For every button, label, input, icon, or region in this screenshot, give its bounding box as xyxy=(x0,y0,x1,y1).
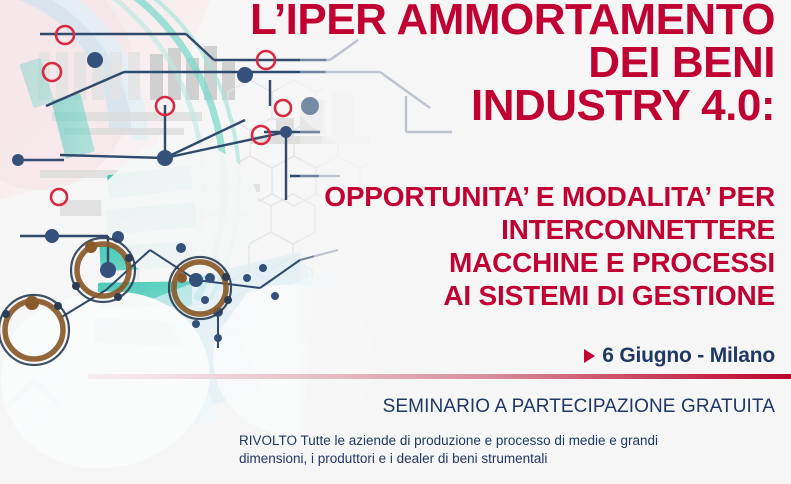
poster-root: L’IPER AMMORTAMENTO DEI BENI INDUSTRY 4.… xyxy=(0,0,791,484)
event-date-location: 6 Giugno - Milano xyxy=(15,344,775,368)
subtitle-line-3: MACCHINE E PROCESSI xyxy=(15,246,775,279)
gradient-divider xyxy=(88,374,791,379)
title-line-2: DEI BENI xyxy=(15,41,775,84)
text-layer: L’IPER AMMORTAMENTO DEI BENI INDUSTRY 4.… xyxy=(0,0,791,484)
event-date-text: 6 Giugno - Milano xyxy=(602,344,775,368)
triangle-right-icon xyxy=(584,349,595,363)
audience-description: RIVOLTO Tutte le aziende di produzione e… xyxy=(239,432,689,468)
subtitle-line-1: OPPORTUNITA’ E MODALITA’ PER xyxy=(15,180,775,213)
subtitle-line-2: INTERCONNETTERE xyxy=(15,213,775,246)
subtitle-line-4: AI SISTEMI DI GESTIONE xyxy=(15,279,775,312)
subtitle: OPPORTUNITA’ E MODALITA’ PER INTERCONNET… xyxy=(15,180,775,312)
main-title: L’IPER AMMORTAMENTO DEI BENI INDUSTRY 4.… xyxy=(15,0,775,127)
seminar-free-label: SEMINARIO A PARTECIPAZIONE GRATUITA xyxy=(15,396,775,418)
title-line-1: L’IPER AMMORTAMENTO xyxy=(15,0,775,41)
title-line-3: INDUSTRY 4.0: xyxy=(15,84,775,127)
